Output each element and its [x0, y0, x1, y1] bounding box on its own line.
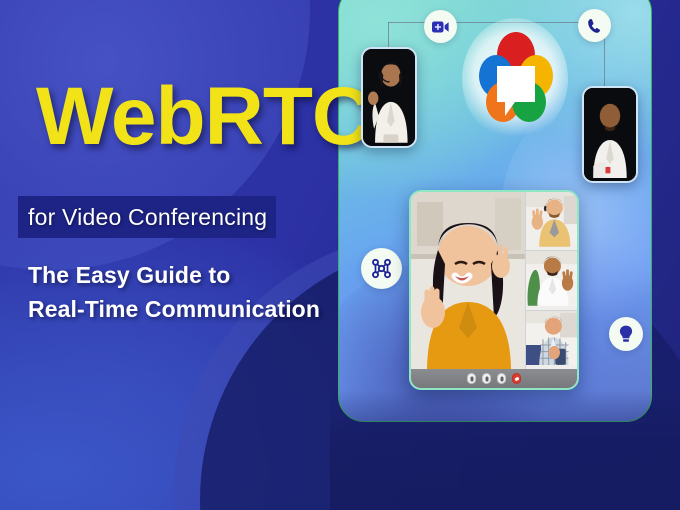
participant-tile-top-left[interactable]: [361, 47, 417, 148]
participant-thumbnail[interactable]: [525, 192, 577, 250]
active-speaker-photo: [411, 192, 525, 369]
screen-share-button[interactable]: [497, 373, 506, 384]
microphone-icon: [470, 376, 473, 381]
page-title: WebRTC: [36, 76, 370, 158]
badge-idea[interactable]: [609, 317, 643, 351]
call-control-bar: [411, 369, 577, 388]
participant-photo: [526, 251, 577, 306]
participant-photo: [363, 49, 415, 143]
participant-photo: [526, 192, 577, 247]
badge-network-mesh[interactable]: [361, 248, 402, 289]
participant-tile-top-right[interactable]: [582, 86, 638, 183]
network-nodes-icon: [370, 257, 393, 280]
video-call-window[interactable]: [409, 190, 579, 390]
background-bottom-shade: [330, 390, 680, 510]
webrtc-logo: [478, 28, 554, 128]
participant-photo: [526, 311, 577, 366]
badge-voice-call[interactable]: [578, 9, 611, 42]
phone-icon: [587, 18, 602, 34]
video-camera-plus-icon: [432, 20, 449, 34]
badge-video-call-add[interactable]: [424, 10, 457, 43]
end-call-button[interactable]: [512, 373, 521, 384]
hero-banner: WebRTC for Video Conferencing The Easy G…: [0, 0, 680, 510]
video-call-body: [411, 192, 577, 369]
end-call-icon: [514, 376, 519, 381]
active-speaker-tile[interactable]: [411, 192, 525, 369]
screen-icon: [500, 376, 503, 381]
camera-icon: [485, 376, 488, 381]
lightbulb-icon: [619, 325, 633, 343]
camera-toggle-button[interactable]: [482, 373, 491, 384]
tagline: The Easy Guide to Real-Time Communicatio…: [28, 258, 320, 326]
participant-thumbnail[interactable]: [525, 250, 577, 309]
participant-thumbnails: [525, 192, 577, 369]
participant-thumbnail[interactable]: [525, 310, 577, 369]
tagline-line-2: Real-Time Communication: [28, 292, 320, 326]
page-subtitle: for Video Conferencing: [28, 202, 267, 232]
tagline-line-1: The Easy Guide to: [28, 258, 320, 292]
participant-photo: [584, 88, 636, 178]
microphone-toggle-button[interactable]: [467, 373, 476, 384]
